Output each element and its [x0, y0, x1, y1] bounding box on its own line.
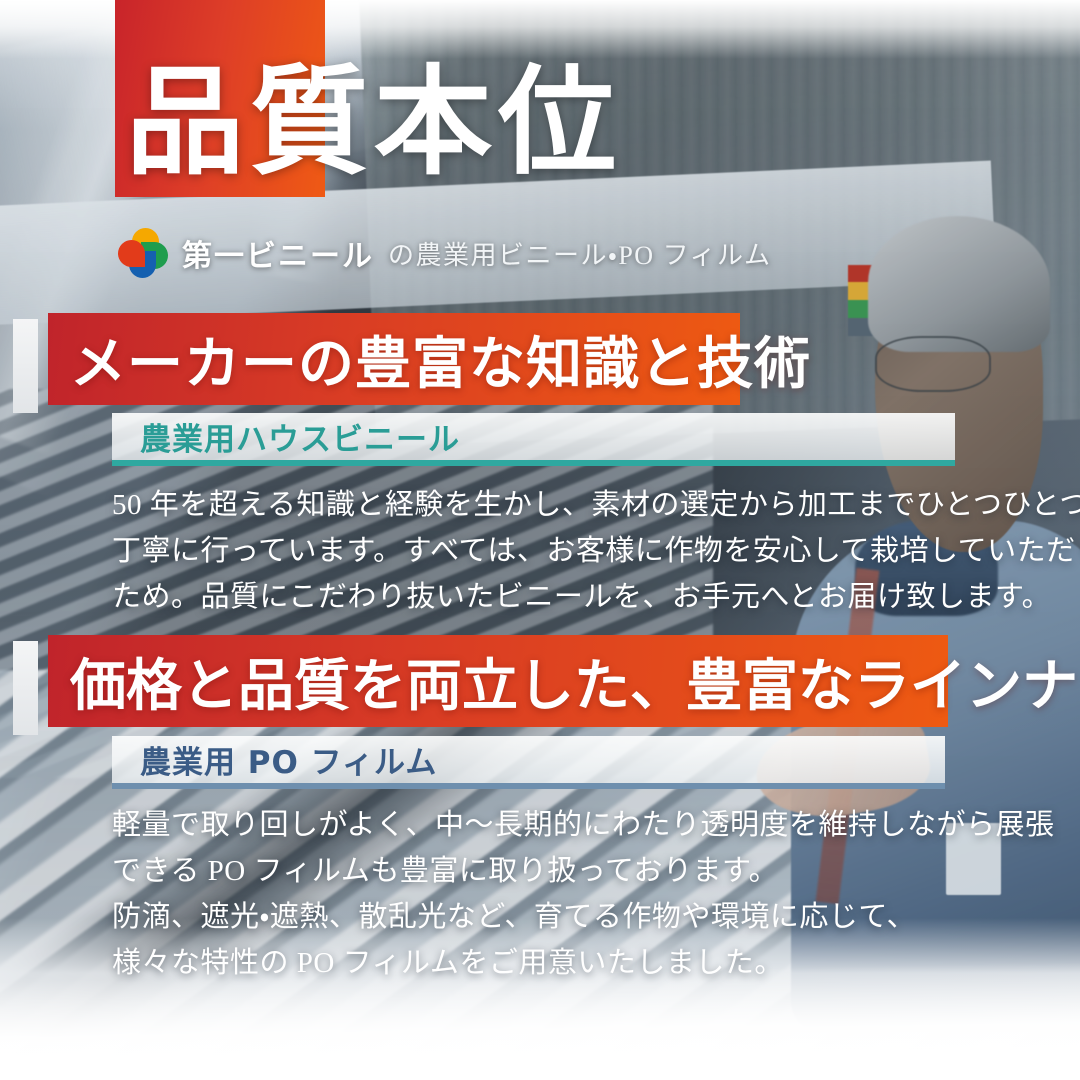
- section-heading-label: メーカーの豊富な知識と技術: [48, 319, 811, 400]
- sub-label-po-film: 農業用 PO フィルム: [112, 737, 437, 782]
- banner-stage: 品質本位 第一ビニール の農業用ビニール・PO フィルム メーカーの豊富な知識と…: [0, 0, 1080, 1080]
- body-line: 軽量で取り回しがよく、中〜長期的にわたり透明度を維持しながら展張: [112, 802, 1055, 848]
- body-line: 様々な特性の PO フィルムをご用意いたしました。: [112, 940, 1055, 986]
- logo-petal-red-icon: [118, 240, 145, 267]
- dai-ichi-vinyl-logo-icon: [118, 228, 168, 278]
- body-line: 50 年を超える知識と経験を生かし、素材の選定から加工までひとつひとつ: [112, 482, 1080, 528]
- sub-label-vinyl: 農業用ハウスビニール: [112, 414, 460, 459]
- body-line: できる PO フィルムも豊富に取り扱っております。: [112, 848, 1055, 894]
- heading-accent-bar: [13, 641, 38, 735]
- section-heading-vinyl: メーカーの豊富な知識と技術: [0, 313, 1080, 405]
- hero-title: 品質本位: [126, 63, 622, 186]
- body-line: 丁寧に行っています。すべては、お客様に作物を安心して栽培していただく: [112, 528, 1080, 574]
- banner-content: 品質本位 第一ビニール の農業用ビニール・PO フィルム メーカーの豊富な知識と…: [0, 0, 1080, 1080]
- heading-red-bar: 価格と品質を両立した、豊富なラインナップ: [48, 635, 948, 727]
- sub-label-band-vinyl: 農業用ハウスビニール: [112, 413, 955, 466]
- body-line: 防滴、遮光・遮熱、散乱光など、育てる作物や環境に応じて、: [112, 894, 1055, 940]
- body-line: ため。品質にこだわり抜いたビニールを、お手元へとお届け致します。: [112, 574, 1080, 620]
- heading-accent-bar: [13, 319, 38, 413]
- section-body-po-film: 軽量で取り回しがよく、中〜長期的にわたり透明度を維持しながら展張 できる PO …: [112, 802, 1055, 986]
- brand-tagline: の農業用ビニール・PO フィルム: [388, 235, 772, 272]
- brand-lockup: 第一ビニール の農業用ビニール・PO フィルム: [118, 228, 772, 278]
- sub-label-band-po-film: 農業用 PO フィルム: [112, 736, 945, 789]
- section-heading-label: 価格と品質を両立した、豊富なラインナップ: [48, 641, 1080, 722]
- section-heading-po-film: 価格と品質を両立した、豊富なラインナップ: [0, 635, 1080, 727]
- heading-red-bar: メーカーの豊富な知識と技術: [48, 313, 740, 405]
- brand-name: 第一ビニール: [182, 231, 374, 275]
- section-body-vinyl: 50 年を超える知識と経験を生かし、素材の選定から加工までひとつひとつ 丁寧に行…: [112, 482, 1080, 620]
